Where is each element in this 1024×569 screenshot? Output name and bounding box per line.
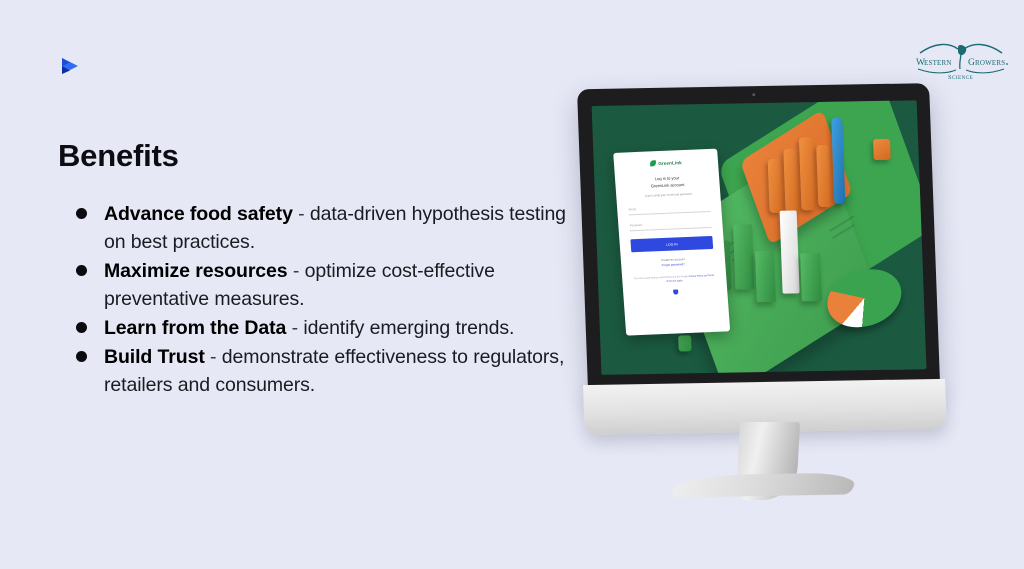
- list-item-lead: Build Trust: [104, 346, 205, 368]
- bullet-dot-icon: [76, 351, 87, 362]
- list-item-text: Learn from the Data - identify emerging …: [104, 314, 514, 342]
- list-item-lead: Learn from the Data: [104, 317, 286, 339]
- list-item-separator: -: [286, 317, 303, 339]
- illustration-orange-bar: [783, 148, 799, 213]
- list-item: Build Trust - demonstrate effectiveness …: [60, 343, 580, 399]
- illustration-orange-bar: [816, 145, 832, 207]
- list-item: Maximize resources - optimize cost-effec…: [60, 257, 580, 313]
- login-title-line2: GreenLink account: [650, 181, 684, 187]
- login-brand: GreenLink: [625, 158, 706, 167]
- desktop-monitor-mockup: GreenLink Log in to your GreenLink accou…: [566, 70, 966, 490]
- login-brand-label: GreenLink: [658, 160, 682, 166]
- bullet-dot-icon: [76, 322, 87, 333]
- monitor-body: GreenLink Log in to your GreenLink accou…: [577, 83, 940, 389]
- list-item-separator: -: [288, 260, 305, 282]
- illustration-green-bar: [800, 253, 821, 302]
- bullet-dot-icon: [76, 208, 87, 219]
- svg-text:G: G: [968, 58, 975, 68]
- password-field[interactable]: Password: [629, 220, 711, 231]
- login-title: Log in to your GreenLink account: [626, 174, 708, 190]
- benefits-list: Advance food safety - data-driven hypoth…: [60, 200, 580, 400]
- login-card: GreenLink Log in to your GreenLink accou…: [613, 148, 730, 335]
- illustration-green-cube: [678, 336, 692, 352]
- illustration-white-bar: [779, 210, 800, 294]
- illustration-orange-cube: [873, 138, 892, 160]
- bullet-dot-icon: [76, 265, 87, 276]
- page-title: Benefits: [58, 138, 179, 174]
- monitor-stand-foot: [671, 472, 858, 497]
- illustration-orange-bar: [799, 137, 815, 210]
- password-field-label: Password: [629, 220, 710, 227]
- list-item-lead: Advance food safety: [104, 203, 293, 225]
- login-subtitle: Log in using your email and password: [627, 191, 708, 198]
- illustration-orange-bar: [768, 159, 784, 213]
- email-field[interactable]: Email: [628, 204, 710, 215]
- email-field-label: Email: [628, 204, 709, 211]
- green-leaf-icon: [650, 160, 656, 166]
- arrow-right-play-icon: [56, 52, 86, 80]
- svg-text:ESTERN: ESTERN: [924, 59, 952, 67]
- shield-badge-icon: [672, 289, 677, 294]
- login-fine-print: This site is protected by reCAPTCHA and …: [633, 275, 715, 285]
- list-item-separator: -: [205, 346, 222, 368]
- list-item-body: identify emerging trends.: [303, 317, 514, 339]
- list-item: Learn from the Data - identify emerging …: [60, 314, 580, 342]
- login-title-line1: Log in to your: [655, 175, 680, 181]
- list-item-lead: Maximize resources: [104, 260, 288, 282]
- login-submit-button[interactable]: LOG IN: [631, 236, 713, 252]
- list-item-separator: -: [293, 203, 310, 225]
- illustration-green-bar: [733, 224, 755, 289]
- webcam-dot-icon: [752, 93, 755, 96]
- list-item-text: Advance food safety - data-driven hypoth…: [104, 200, 580, 256]
- illustration-green-bar: [755, 251, 776, 302]
- list-item-text: Build Trust - demonstrate effectiveness …: [104, 343, 580, 399]
- list-item: Advance food safety - data-driven hypoth…: [60, 200, 580, 256]
- monitor-screen: GreenLink Log in to your GreenLink accou…: [592, 100, 927, 374]
- slide-canvas: W ESTERN G ROWERS S CIENCE Benefits Adva…: [0, 0, 1024, 569]
- svg-text:ROWERS: ROWERS: [975, 59, 1005, 67]
- list-item-text: Maximize resources - optimize cost-effec…: [104, 257, 580, 313]
